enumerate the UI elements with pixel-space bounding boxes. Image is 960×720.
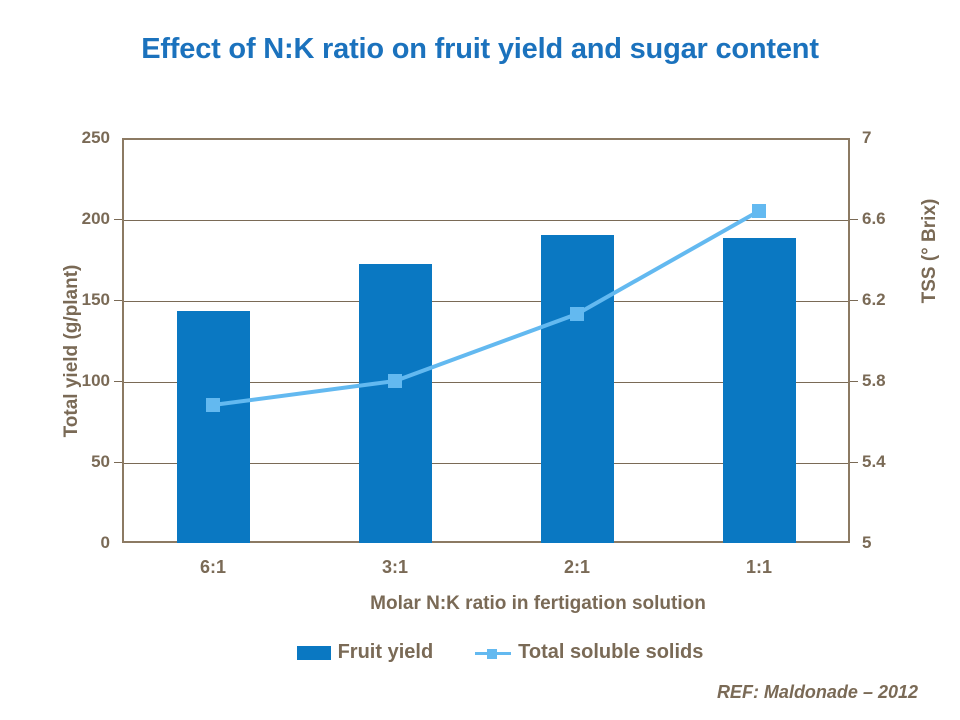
y2-axis-title: TSS (° Brix) [919, 61, 941, 441]
y-axis-tickmark [114, 381, 122, 382]
x-axis-tick-1-1: 1:1 [746, 557, 772, 578]
y2-axis-tickmark [850, 381, 858, 382]
y-axis-tickmark [114, 462, 122, 463]
plot-area [122, 138, 850, 543]
y-axis-tickmark [114, 300, 122, 301]
y2-axis-tick-5-4: 5.4 [862, 452, 922, 472]
gridline [124, 463, 848, 464]
reference-note: REF: Maldonade – 2012 [717, 682, 918, 703]
x-axis-tick-6-1: 6:1 [200, 557, 226, 578]
x-axis-title: Molar N:K ratio in fertigation solution [0, 593, 960, 615]
line-marker-swatch-icon [475, 646, 511, 660]
y-axis-tickmark [114, 219, 122, 220]
y-axis-title: Total yield (g/plant) [61, 161, 83, 541]
chart-figure: Effect of N:K ratio on fruit yield and s… [0, 0, 960, 720]
gridline [124, 220, 848, 221]
chart-title: Effect of N:K ratio on fruit yield and s… [0, 33, 960, 66]
y-axis-tick-250: 250 [42, 128, 110, 148]
x-axis-tick-3-1: 3:1 [382, 557, 408, 578]
gridline [124, 301, 848, 302]
y2-axis-tickmark [850, 300, 858, 301]
y2-axis-tickmark [850, 219, 858, 220]
y2-axis-tick-6-2: 6.2 [862, 290, 922, 310]
y2-axis-tick-5: 5 [862, 533, 922, 553]
y2-axis-tickmark [850, 462, 858, 463]
legend-item-fruit-yield[interactable]: Fruit yield [297, 641, 434, 664]
gridline [124, 382, 848, 383]
legend-item-total-soluble-solids[interactable]: Total soluble solids [475, 641, 703, 664]
legend-label-total-soluble-solids: Total soluble solids [518, 641, 703, 664]
y2-axis-tick-6-6: 6.6 [862, 209, 922, 229]
y2-axis-tick-7: 7 [862, 128, 922, 148]
x-axis-tick-2-1: 2:1 [564, 557, 590, 578]
legend-label-fruit-yield: Fruit yield [338, 641, 434, 664]
y2-axis-tick-5-8: 5.8 [862, 371, 922, 391]
chart-legend: Fruit yield Total soluble solids [0, 641, 960, 664]
bar-swatch-icon [297, 646, 331, 660]
